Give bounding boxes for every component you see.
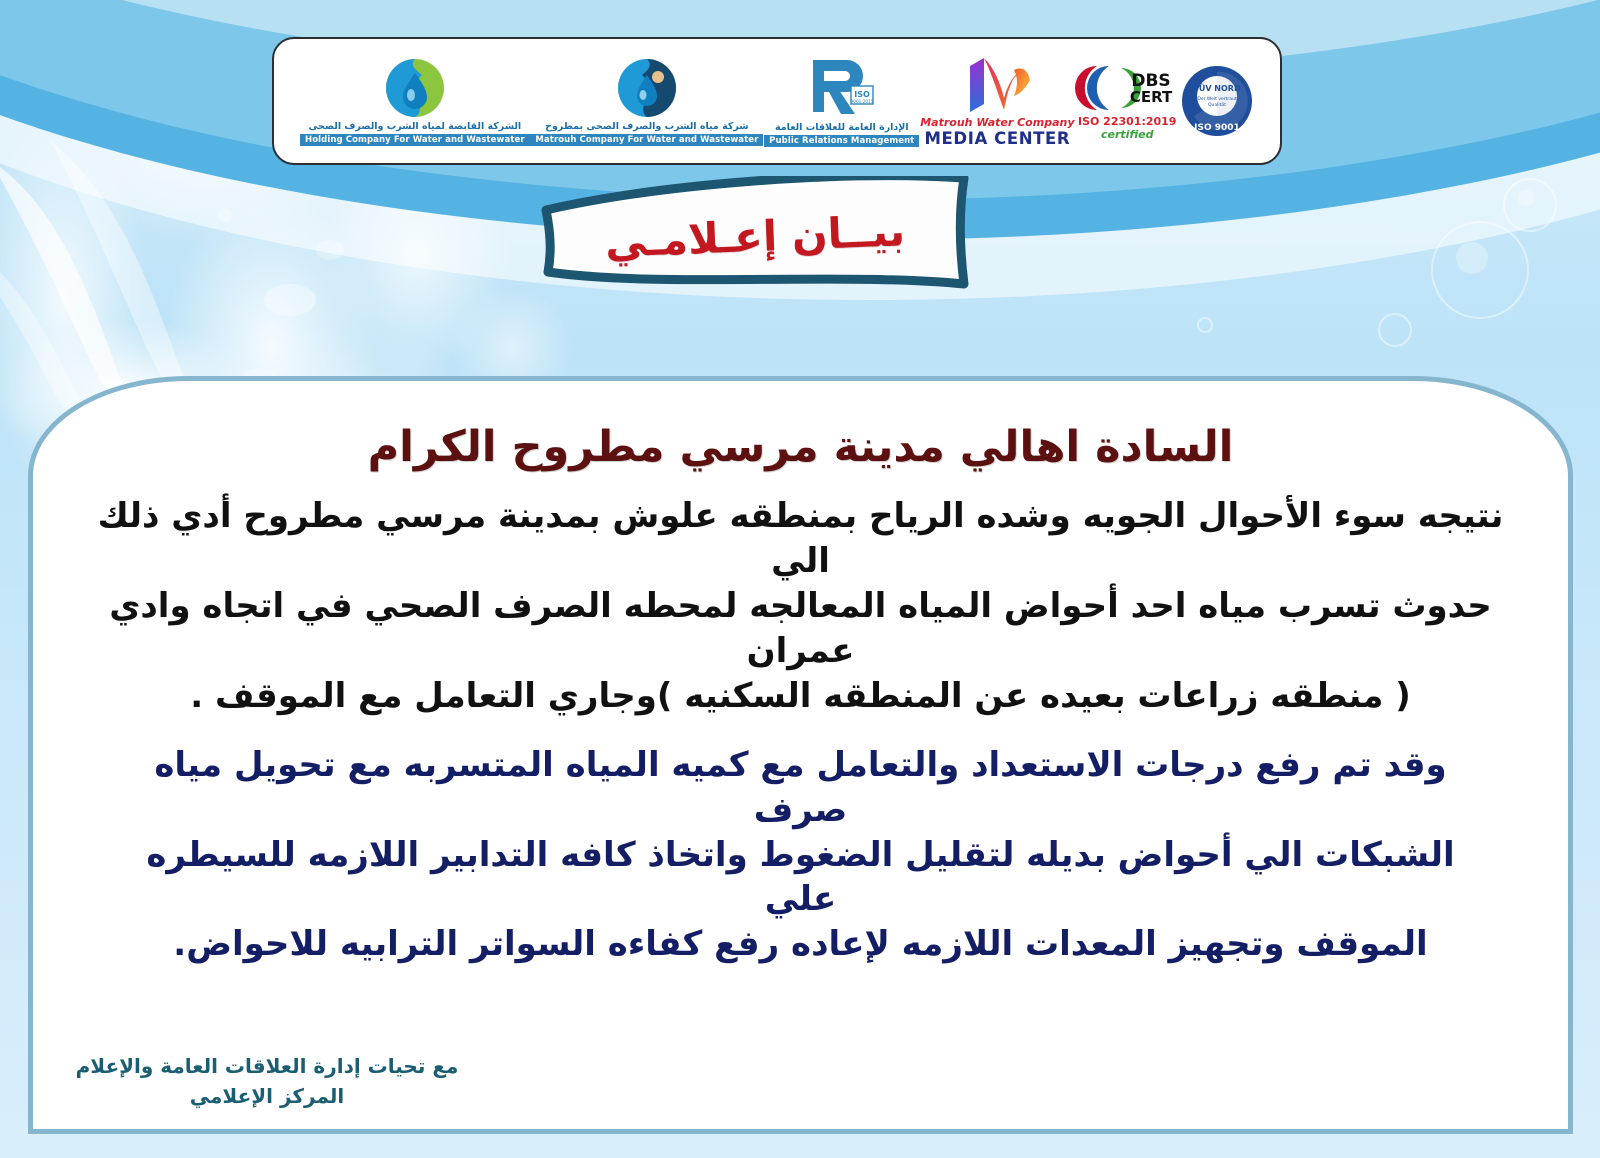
logo-dbs-certified: certified — [1101, 128, 1153, 141]
public-relations-pr-monogram-logo: ISO 9001:2015 — [805, 56, 879, 120]
svg-text:Qualität: Qualität — [1208, 102, 1226, 108]
press-release-ribbon: بيــان إعـلامـي — [540, 176, 970, 296]
svg-text:9001:2015: 9001:2015 — [850, 99, 873, 104]
svg-text:TÜV NORD: TÜV NORD — [1193, 83, 1241, 93]
logo-dbs-iso-line: ISO 22301:2019 — [1078, 115, 1176, 128]
matrouh-company-globe-logo — [616, 57, 678, 119]
tuv-nord-iso9001-seal: TÜV NORD Der Welt vertraut Qualität ISO … — [1180, 64, 1254, 138]
logo-matrouh-company: شركة مياه الشرب والصرف الصحى بمطروح Matr… — [530, 45, 763, 157]
paragraph-incident: نتيجه سوء الأحوال الجويه وشده الرياح بمن… — [67, 494, 1534, 718]
dbs-cert-logo: DBS CERT — [1075, 62, 1179, 114]
svg-text:Der Welt vertraut: Der Welt vertraut — [1197, 96, 1236, 102]
press-release-page: الشركة القابضة لمياه الشرب والصرف الصحى … — [0, 0, 1600, 1158]
media-center-ribbon-logo — [954, 54, 1040, 116]
paragraph-response: وقد تم رفع درجات الاستعداد والتعامل مع ك… — [67, 743, 1534, 967]
paragraph-incident-line-3: ( منطقه زراعات بعيده عن المنطقه السكنيه … — [67, 674, 1534, 719]
logo-holding-company-arabic: الشركة القابضة لمياه الشرب والصرف الصحى — [308, 121, 521, 132]
paragraph-response-line-1: وقد تم رفع درجات الاستعداد والتعامل مع ك… — [137, 743, 1464, 833]
paragraph-incident-line-2: حدوث تسرب مياه احد أحواض المياه المعالجه… — [67, 584, 1534, 674]
logo-media-center-title: MEDIA CENTER — [925, 129, 1071, 148]
logo-holding-company: الشركة القابضة لمياه الشرب والصرف الصحى … — [300, 45, 530, 157]
signature-block: مع تحيات إدارة العلاقات العامة والإعلام … — [67, 1051, 467, 1111]
holding-company-globe-droplet-logo — [384, 57, 446, 119]
ribbon-title: بيــان إعـلامـي — [538, 168, 972, 304]
logo-holding-company-english: Holding Company For Water and Wastewater — [300, 134, 530, 146]
svg-text:ISO 9001: ISO 9001 — [1194, 123, 1240, 133]
page-title: السادة اهالي مدينة مرسي مطروح الكرام — [67, 423, 1534, 472]
logo-public-relations-english: Public Relations Management — [764, 135, 919, 147]
paragraph-incident-line-1: نتيجه سوء الأحوال الجويه وشده الرياح بمن… — [67, 494, 1534, 584]
logo-dbs-cert: DBS CERT ISO 22301:2019 certified — [1075, 45, 1179, 157]
logo-media-center-tagline: Matrouh Water Company — [920, 116, 1074, 129]
svg-text:CERT: CERT — [1130, 88, 1173, 106]
logo-bar: الشركة القابضة لمياه الشرب والصرف الصحى … — [272, 37, 1282, 165]
logo-matrouh-company-arabic: شركة مياه الشرب والصرف الصحى بمطروح — [545, 121, 749, 132]
signature-media-center: المركز الإعلامي — [67, 1081, 467, 1111]
logo-public-relations: ISO 9001:2015 الإدارة العامة للعلاقات ال… — [764, 45, 919, 157]
logo-tuv-nord: TÜV NORD Der Welt vertraut Qualität ISO … — [1180, 45, 1254, 157]
svg-text:ISO: ISO — [854, 90, 870, 99]
logo-media-center: Matrouh Water Company MEDIA CENTER — [920, 45, 1074, 157]
paragraph-response-line-2: الشبكات الي أحواض بديله لتقليل الضغوط وا… — [137, 833, 1464, 923]
paragraph-response-line-3: الموقف وتجهيز المعدات اللازمه لإعاده رفع… — [137, 922, 1464, 967]
logo-matrouh-company-english: Matrouh Company For Water and Wastewater — [530, 134, 763, 146]
content-card: السادة اهالي مدينة مرسي مطروح الكرام نتي… — [28, 376, 1573, 1134]
logo-public-relations-arabic: الإدارة العامة للعلاقات العامة — [775, 122, 909, 133]
signature-department: مع تحيات إدارة العلاقات العامة والإعلام — [67, 1051, 467, 1081]
